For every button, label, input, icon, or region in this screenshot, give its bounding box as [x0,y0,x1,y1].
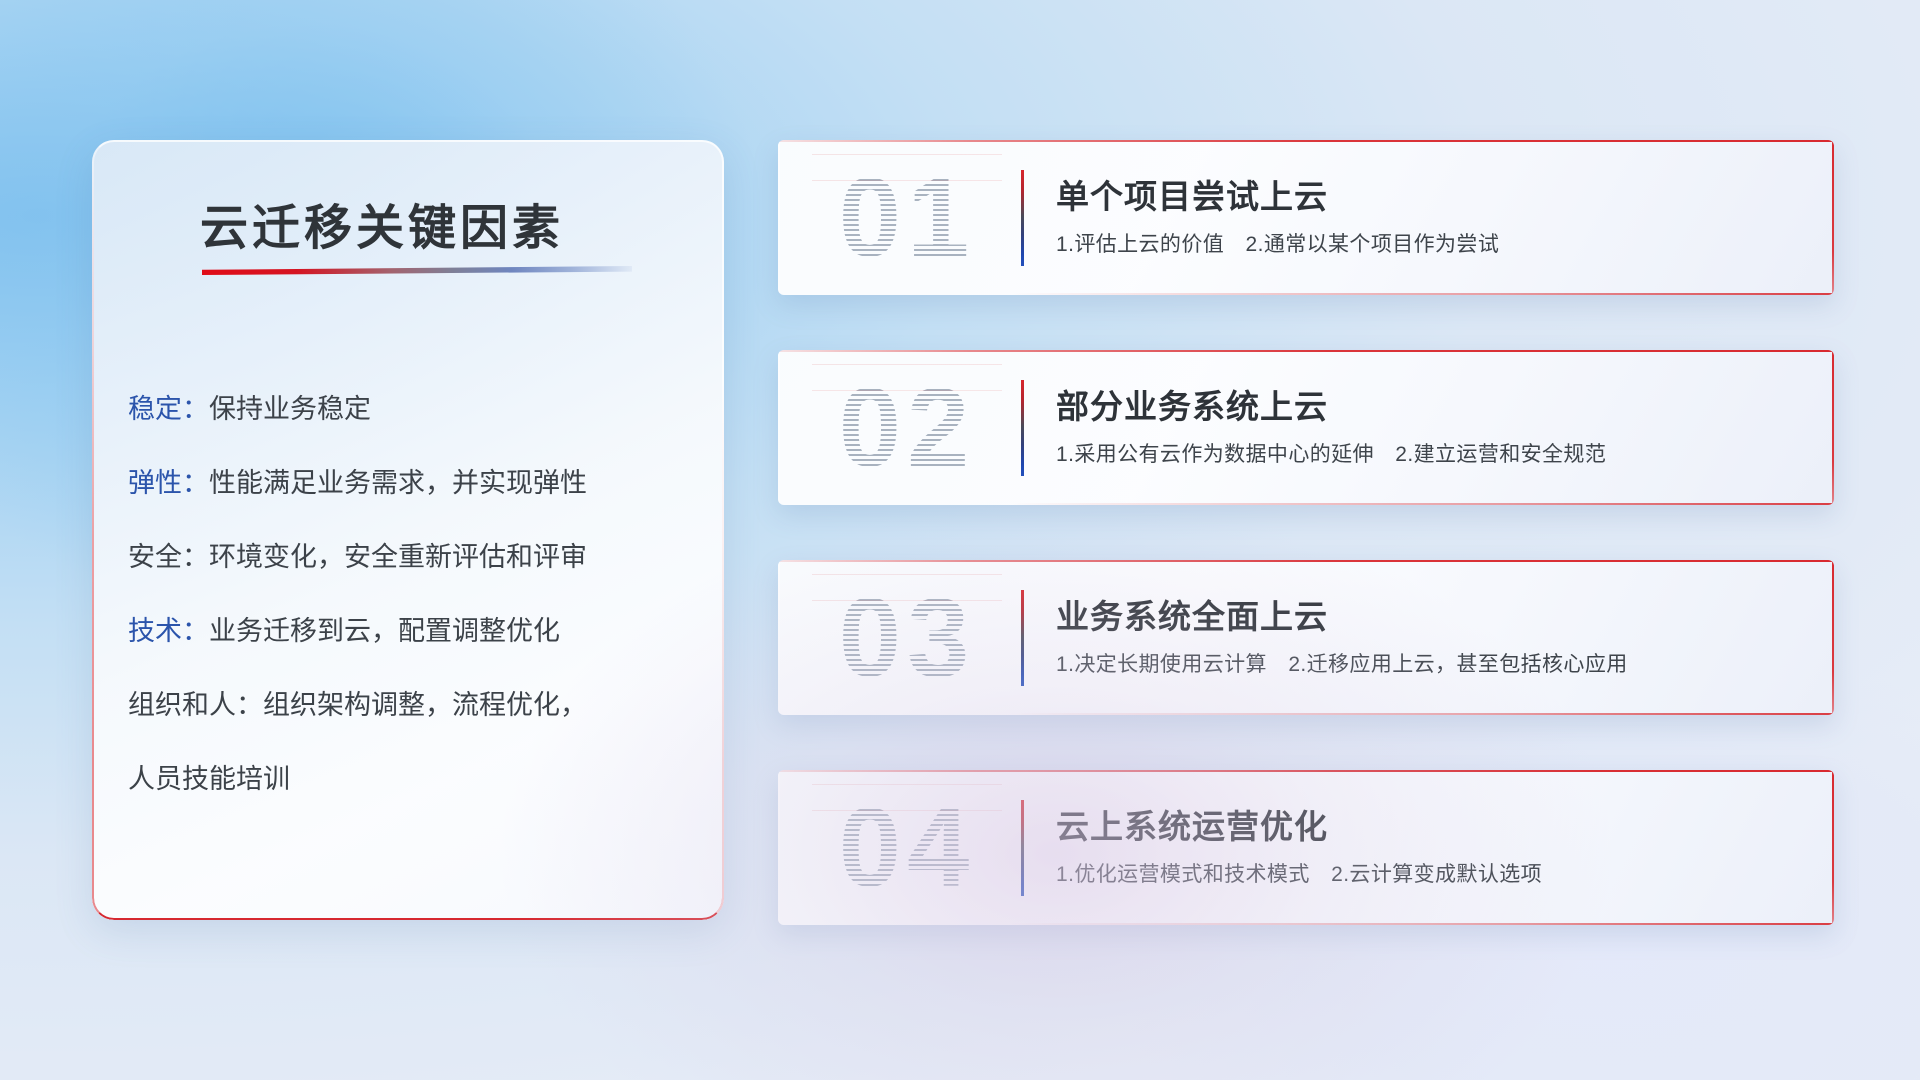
factor-label: 弹性： [128,468,209,498]
step-number-glyph: 01 [812,154,1002,282]
page-title: 云迁移关键因素 [200,188,564,258]
step-title: 云上系统运营优化 [1056,800,1328,848]
step-card-04[interactable]: 04 云上系统运营优化 1.优化运营模式和技术模式 2.云计算变成默认选项 [778,770,1834,925]
step-description: 1.优化运营模式和技术模式 2.云计算变成默认选项 [1056,858,1542,888]
step-divider-bar [1021,380,1024,476]
card-right-accent [1832,770,1834,925]
factor-row: 弹性：性能满足业务需求，并实现弹性 [128,446,696,520]
factor-label: 安全： [128,542,209,572]
step-card-01[interactable]: 01 单个项目尝试上云 1.评估上云的价值 2.通常以某个项目作为尝试 [778,140,1834,295]
step-divider-bar [1021,590,1024,686]
card-top-accent [778,770,1834,772]
factor-text: 人员技能培训 [128,764,290,794]
step-divider-bar [1021,170,1024,266]
card-top-accent [778,560,1834,562]
step-card-03[interactable]: 03 业务系统全面上云 1.决定长期使用云计算 2.迁移应用上云，甚至包括核心应… [778,560,1834,715]
factor-row-continuation: 人员技能培训 [128,742,696,816]
factor-text: 环境变化，安全重新评估和评审 [209,542,587,572]
factor-row: 安全：环境变化，安全重新评估和评审 [128,520,696,594]
factor-text: 保持业务稳定 [209,394,371,424]
factor-label: 技术： [128,616,209,646]
card-right-accent [1832,140,1834,295]
step-number-glyph: 04 [812,784,1002,912]
step-card-02[interactable]: 02 部分业务系统上云 1.采用公有云作为数据中心的延伸 2.建立运营和安全规范 [778,350,1834,505]
step-number-glyph: 02 [812,364,1002,492]
step-divider-bar [1021,800,1024,896]
factor-row: 组织和人：组织架构调整，流程优化， [128,668,696,742]
factor-label: 组织和人： [128,690,263,720]
card-top-accent [778,140,1834,142]
step-title: 业务系统全面上云 [1056,590,1328,638]
factor-list: 稳定：保持业务稳定 弹性：性能满足业务需求，并实现弹性 安全：环境变化，安全重新… [128,372,696,816]
factor-text: 业务迁移到云，配置调整优化 [209,616,560,646]
step-title: 单个项目尝试上云 [1056,170,1328,218]
step-description: 1.评估上云的价值 2.通常以某个项目作为尝试 [1056,228,1499,258]
card-bottom-accent [1010,923,1834,925]
card-left-highlight [778,350,780,505]
card-right-accent [1832,350,1834,505]
factor-row: 稳定：保持业务稳定 [128,372,696,446]
factor-text: 组织架构调整，流程优化， [263,690,587,720]
card-top-accent [778,350,1834,352]
step-number-glyph: 03 [812,574,1002,702]
card-left-highlight [778,140,780,295]
factor-label: 稳定： [128,394,209,424]
title-underline-accent [202,266,632,275]
card-bottom-accent [1010,293,1834,295]
slide-canvas: 云迁移关键因素 稳定：保持业务稳定 弹性：性能满足业务需求，并实现弹性 安全：环… [0,0,1920,1080]
step-description: 1.决定长期使用云计算 2.迁移应用上云，甚至包括核心应用 [1056,648,1628,678]
card-left-highlight [778,560,780,715]
card-left-highlight [778,770,780,925]
card-bottom-accent [1010,503,1834,505]
factor-text: 性能满足业务需求，并实现弹性 [209,468,587,498]
step-title: 部分业务系统上云 [1056,380,1328,428]
factor-row: 技术：业务迁移到云，配置调整优化 [128,594,696,668]
key-factors-panel: 云迁移关键因素 稳定：保持业务稳定 弹性：性能满足业务需求，并实现弹性 安全：环… [92,140,724,920]
step-description: 1.采用公有云作为数据中心的延伸 2.建立运营和安全规范 [1056,438,1606,468]
card-right-accent [1832,560,1834,715]
card-bottom-accent [1010,713,1834,715]
